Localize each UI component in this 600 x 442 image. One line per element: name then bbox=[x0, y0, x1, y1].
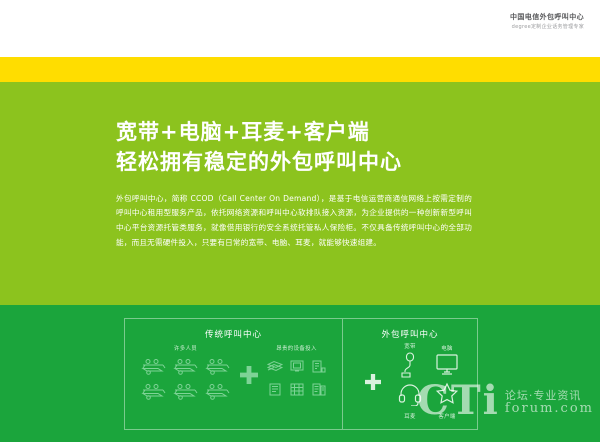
server-icon bbox=[312, 358, 326, 377]
outsourced-item-headset: 耳麦 bbox=[401, 382, 419, 422]
server-rack-icon bbox=[268, 381, 282, 400]
poster-page: 中国电信外包呼叫中心 degree定制企业话务管理专家 宽带+电脑+耳麦+客户端… bbox=[0, 0, 600, 442]
workstation-icon bbox=[141, 383, 167, 404]
broadband-label: 宽带 bbox=[404, 342, 416, 350]
outsourced-item-broadband: 宽带 bbox=[401, 342, 419, 382]
monitor-icon bbox=[290, 358, 304, 377]
yellow-accent-band bbox=[0, 57, 600, 82]
traditional-column: 传统呼叫中心 许多人员 bbox=[125, 319, 343, 429]
outsourced-column: 外包呼叫中心 宽带 bbox=[343, 319, 477, 429]
workstation-icon bbox=[205, 358, 231, 379]
comparison-section: 传统呼叫中心 许多人员 bbox=[0, 305, 600, 442]
outsourced-icon-grid: 宽带 bbox=[343, 342, 477, 422]
outsourced-plus-icon bbox=[345, 374, 401, 390]
brand-subtitle: degree定制企业话务管理专家 bbox=[510, 24, 584, 30]
cti-watermark-text: 论坛·专业资讯 forum.com bbox=[505, 390, 594, 420]
server-pair-icon bbox=[312, 381, 326, 400]
equipment-group: 昂贵的设备投入 bbox=[264, 344, 330, 402]
brand-block: 中国电信外包呼叫中心 degree定制企业话务管理专家 bbox=[510, 13, 584, 30]
brand-title: 中国电信外包呼叫中心 bbox=[510, 13, 584, 22]
modem-icon bbox=[399, 352, 421, 382]
headset-label: 耳麦 bbox=[404, 412, 416, 420]
staff-group: 许多人员 bbox=[138, 344, 234, 406]
hero-section: 宽带+电脑+耳麦+客户端 轻松拥有稳定的外包呼叫中心 外包呼叫中心，简称 CCO… bbox=[0, 82, 600, 305]
outsourced-item-client: 客户端 bbox=[419, 382, 475, 422]
equipment-icon-grid bbox=[264, 356, 330, 402]
outsourced-item-computer: 电脑 bbox=[419, 344, 475, 380]
hero-content: 宽带+电脑+耳麦+客户端 轻松拥有稳定的外包呼叫中心 外包呼叫中心，简称 CCO… bbox=[116, 118, 472, 251]
hero-description: 外包呼叫中心，简称 CCOD（Call Center On Demand），是基… bbox=[116, 192, 472, 251]
comparison-panel: 传统呼叫中心 许多人员 bbox=[124, 318, 478, 430]
staff-icon-grid bbox=[138, 356, 234, 406]
equipment-label: 昂贵的设备投入 bbox=[276, 344, 317, 352]
workstation-icon bbox=[173, 358, 199, 379]
workstation-icon bbox=[173, 383, 199, 404]
monitor-icon bbox=[435, 354, 459, 380]
client-label: 客户端 bbox=[438, 412, 455, 420]
page-header: 中国电信外包呼叫中心 degree定制企业话务管理专家 bbox=[0, 0, 600, 57]
hero-title-line-2: 轻松拥有稳定的外包呼叫中心 bbox=[116, 148, 472, 178]
cti-tagline: 论坛·专业资讯 bbox=[505, 390, 594, 402]
hero-title-line-1: 宽带+电脑+耳麦+客户端 bbox=[116, 118, 472, 148]
star-client-icon bbox=[435, 382, 459, 410]
cash-icon bbox=[267, 358, 283, 377]
outsourced-heading: 外包呼叫中心 bbox=[343, 328, 477, 340]
workstation-icon bbox=[205, 383, 231, 404]
traditional-heading: 传统呼叫中心 bbox=[125, 328, 342, 340]
traditional-plus-icon bbox=[240, 366, 258, 388]
computer-label: 电脑 bbox=[441, 344, 453, 352]
traditional-icon-groups: 许多人员 bbox=[125, 344, 342, 406]
workstation-icon bbox=[141, 358, 167, 379]
staff-label: 许多人员 bbox=[174, 344, 197, 352]
cti-url: forum.com bbox=[505, 402, 594, 417]
switch-icon bbox=[290, 381, 304, 400]
